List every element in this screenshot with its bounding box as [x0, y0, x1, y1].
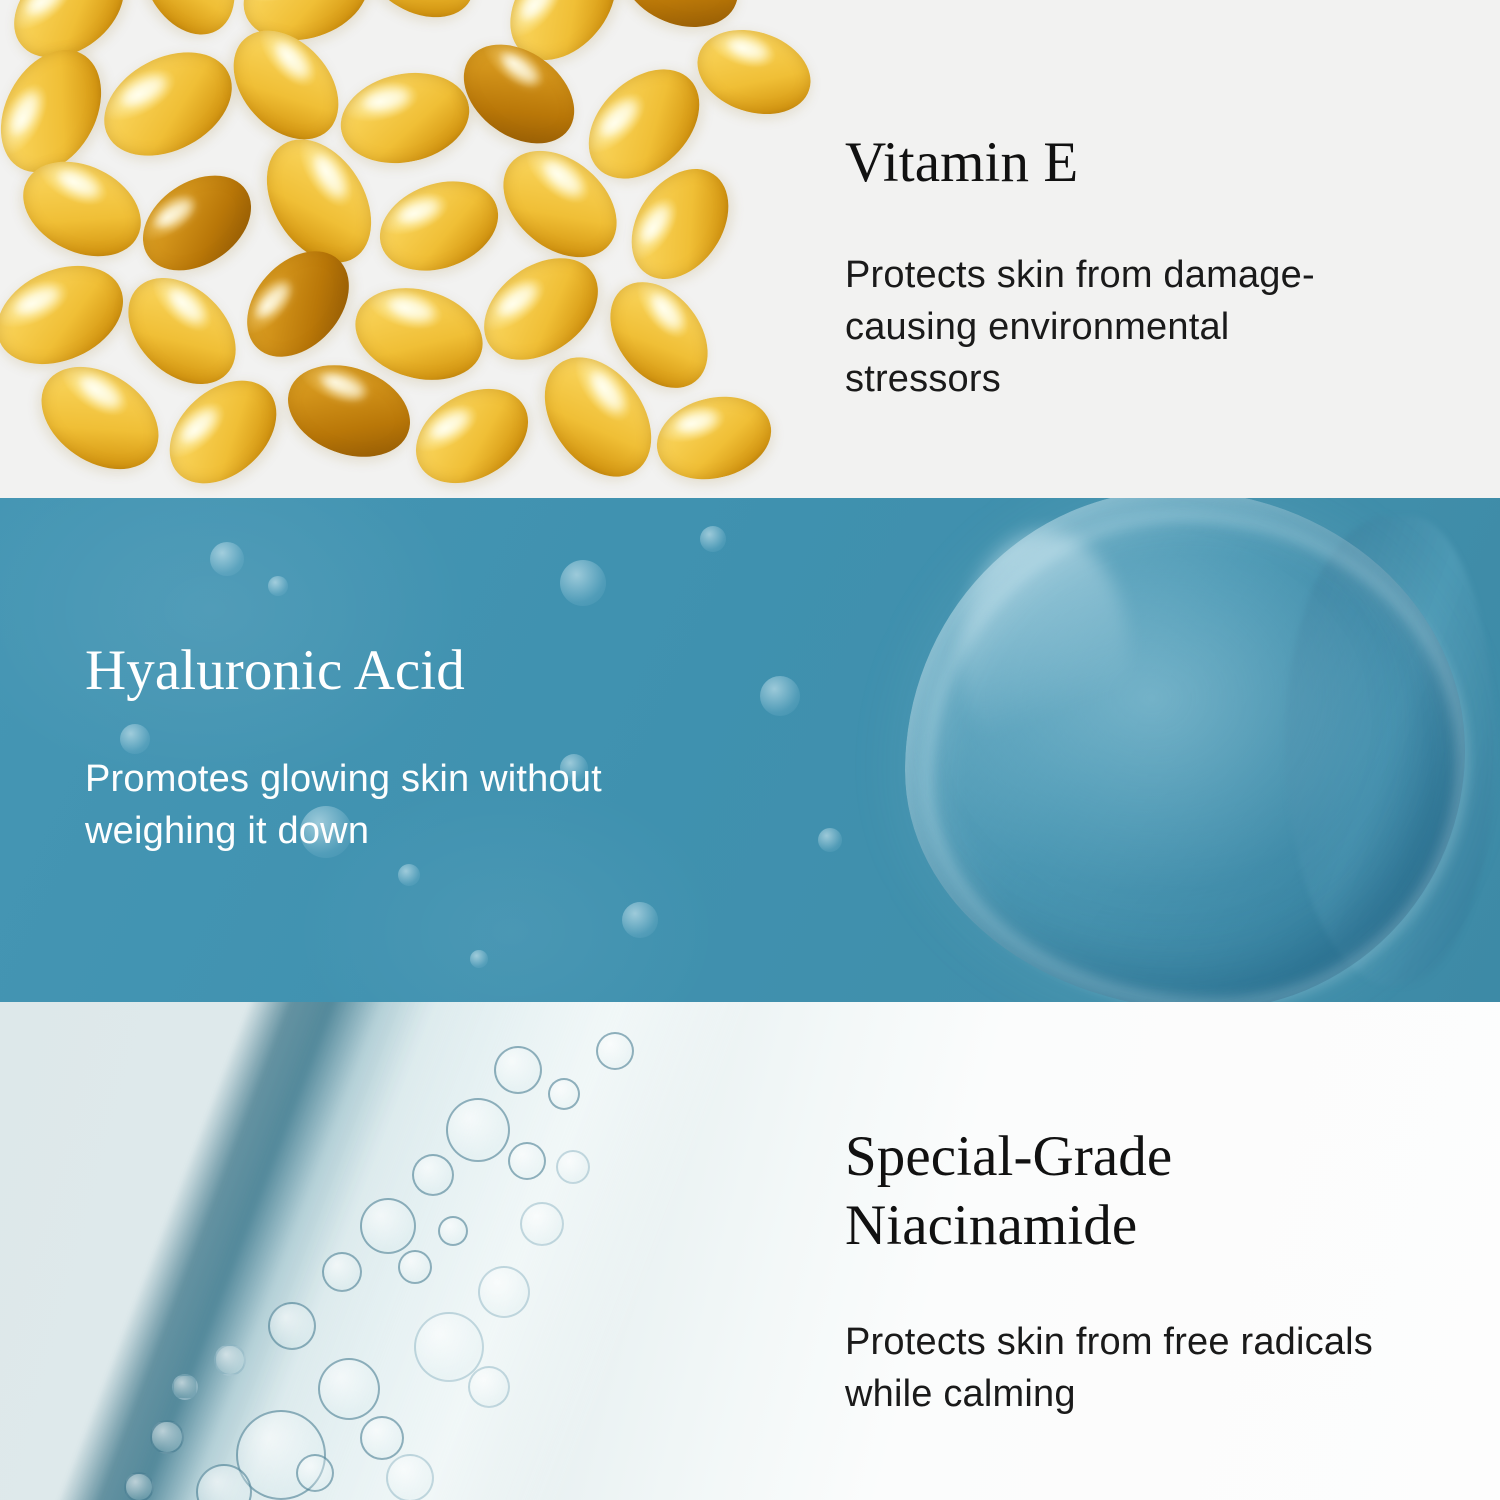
- panel-hyaluronic-acid: Hyaluronic Acid Promotes glowing skin wi…: [0, 498, 1500, 1002]
- ingredient-description-special-grade-niacinamide: Protects skin from free radicals while c…: [845, 1316, 1465, 1420]
- ingredient-description-vitamin-e: Protects skin from damage- causing envir…: [845, 249, 1435, 405]
- ingredient-title-vitamin-e: Vitamin E: [845, 128, 1435, 197]
- panel-special-grade-niacinamide: Special-Grade Niacinamide Protects skin …: [0, 1002, 1500, 1500]
- softgel-capsule-field: [0, 0, 840, 498]
- hyaluronic-acid-copy: Hyaluronic Acid Promotes glowing skin wi…: [85, 636, 745, 857]
- ingredient-title-hyaluronic-acid: Hyaluronic Acid: [85, 636, 745, 705]
- ingredient-benefits-infographic: Vitamin E Protects skin from damage- cau…: [0, 0, 1500, 1500]
- ingredient-description-hyaluronic-acid: Promotes glowing skin without weighing i…: [85, 753, 745, 857]
- niacinamide-copy: Special-Grade Niacinamide Protects skin …: [845, 1122, 1465, 1420]
- gel-droplet: [905, 498, 1465, 1002]
- ingredient-title-special-grade-niacinamide: Special-Grade Niacinamide: [845, 1122, 1465, 1260]
- vitamin-e-copy: Vitamin E Protects skin from damage- cau…: [845, 128, 1435, 405]
- panel-vitamin-e: Vitamin E Protects skin from damage- cau…: [0, 0, 1500, 498]
